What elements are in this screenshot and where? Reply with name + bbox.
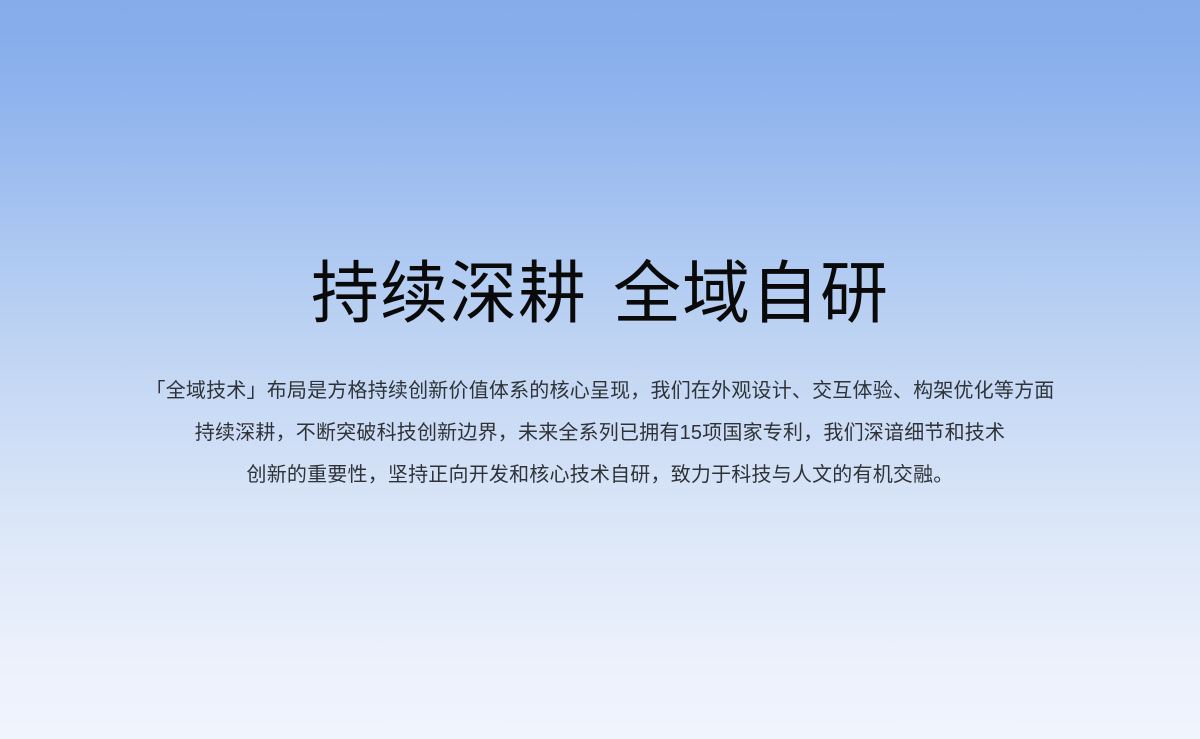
- heading-part-two: 全域自研: [613, 256, 889, 332]
- heading-part-one: 持续深耕: [311, 256, 587, 332]
- hero-description-line-3: 创新的重要性，坚持正向开发和核心技术自研，致力于科技与人文的有机交融。: [70, 454, 1130, 496]
- hero-section: 持续深耕全域自研 「全域技术」布局是方格持续创新价值体系的核心呈现，我们在外观设…: [0, 0, 1200, 739]
- hero-description-line-1: 「全域技术」布局是方格持续创新价值体系的核心呈现，我们在外观设计、交互体验、构架…: [70, 370, 1130, 412]
- page-title: 持续深耕全域自研: [0, 252, 1200, 336]
- hero-description-line-2: 持续深耕，不断突破科技创新边界，未来全系列已拥有15项国家专利，我们深谙细节和技…: [70, 412, 1130, 454]
- hero-description: 「全域技术」布局是方格持续创新价值体系的核心呈现，我们在外观设计、交互体验、构架…: [70, 370, 1130, 496]
